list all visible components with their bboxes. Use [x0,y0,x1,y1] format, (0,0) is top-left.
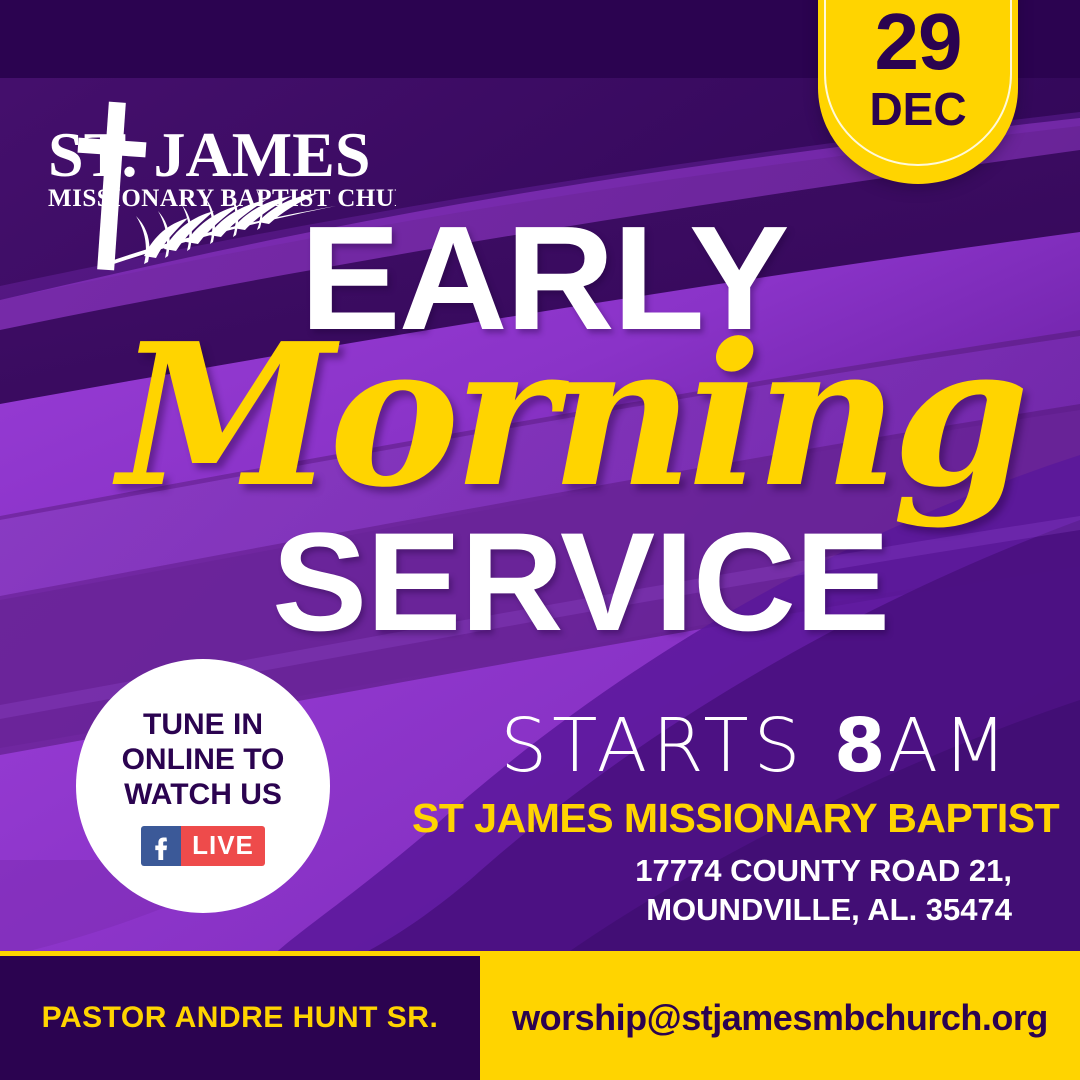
footer-email-block[interactable]: worship@stjamesmbchurch.org [480,956,1080,1080]
starts-time-suffix: AM [888,703,1012,789]
pastor-name: PASTOR ANDRE HUNT SR. [42,1001,439,1035]
date-badge: 29 DEC [818,0,1018,184]
address-line-2: MOUNDVILLE, AL. 35474 [412,890,1012,929]
headline-service: SERVICE [272,512,889,652]
tune-in-line-1: TUNE IN [143,707,263,742]
facebook-icon [141,826,181,866]
tune-in-line-3: WATCH US [124,777,282,812]
live-label: LIVE [181,826,265,866]
footer-pastor-block: PASTOR ANDRE HUNT SR. [0,956,480,1080]
logo-name-text: ST. JAMES [48,119,370,190]
footer-bar: PASTOR ANDRE HUNT SR. worship@stjamesmbc… [0,956,1080,1080]
starts-time-number: 8 [834,703,888,789]
church-name: ST JAMES MISSIONARY BAPTIST [412,793,1012,843]
tune-in-line-2: ONLINE TO [122,742,285,777]
headline-morning: Morning [118,318,1023,514]
contact-email: worship@stjamesmbchurch.org [512,997,1048,1039]
service-info: STARTS 8AM ST JAMES MISSIONARY BAPTIST 1… [412,705,1012,929]
start-time-line: STARTS 8AM [412,705,1012,787]
date-badge-month: DEC [818,86,1018,132]
flyer-canvas: 29 DEC [0,0,1080,1080]
address-line-1: 17774 COUNTY ROAD 21, [412,851,1012,890]
logo-sub-text: MISSIONARY BAPTIST CHURCH [48,185,396,212]
tune-in-badge[interactable]: TUNE IN ONLINE TO WATCH US LIVE [76,659,330,913]
starts-prefix: STARTS [500,703,834,789]
church-logo: ST. JAMES MISSIONARY BAPTIST CHURCH [36,96,396,281]
date-badge-day: 29 [818,2,1018,82]
facebook-live-logo[interactable]: LIVE [141,826,265,866]
